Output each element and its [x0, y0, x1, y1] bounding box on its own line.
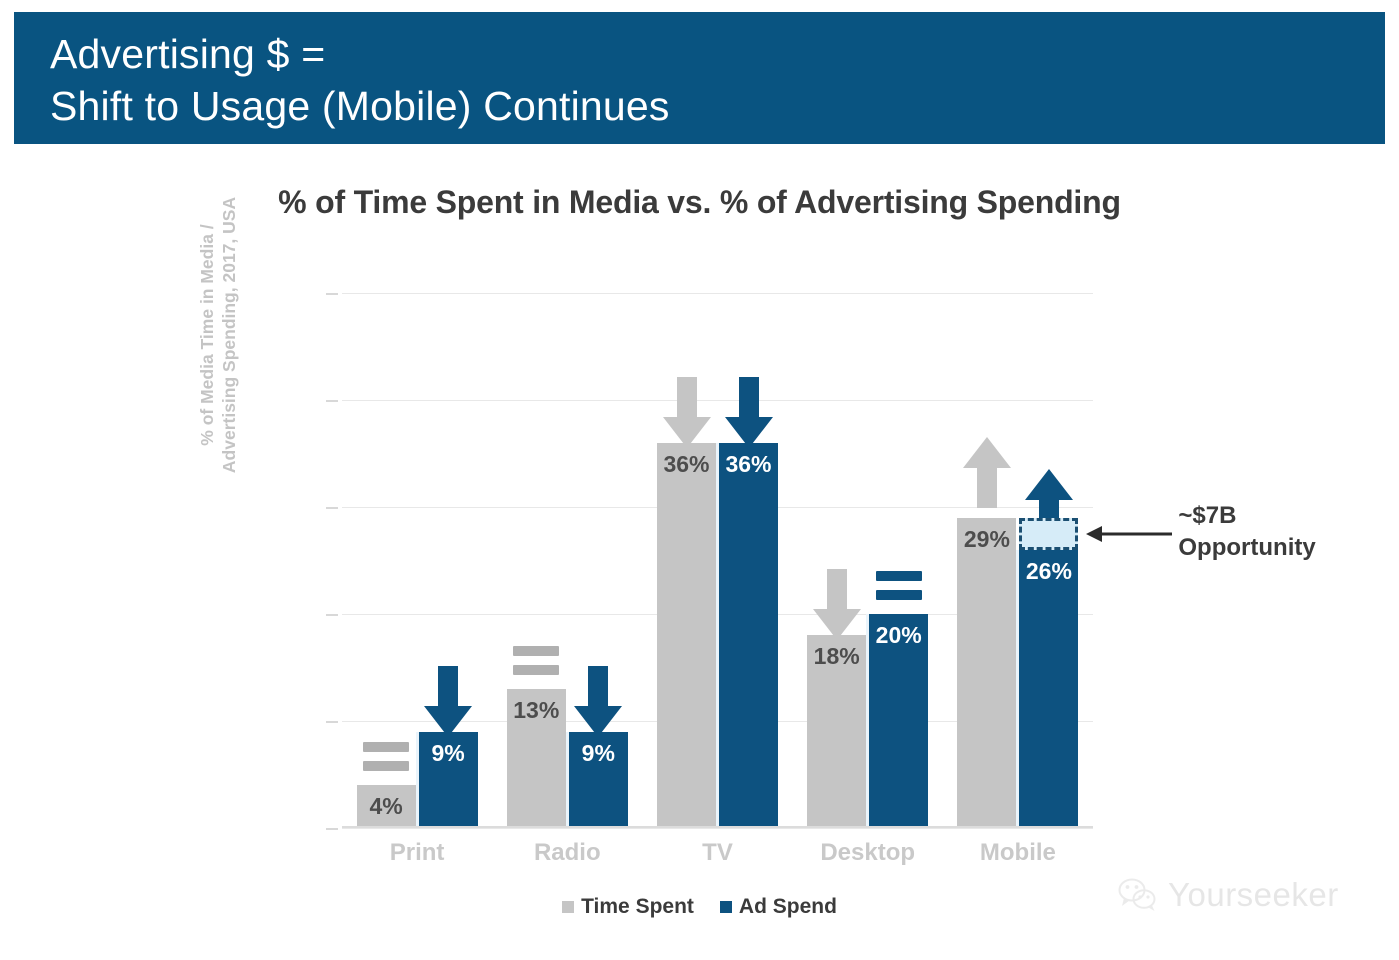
chart-container: % of Time Spent in Media vs. % of Advert…: [0, 150, 1399, 960]
wechat-icon: [1118, 878, 1158, 912]
y-axis-tick-mark: [326, 400, 338, 402]
y-axis-tick-mark: [326, 721, 338, 723]
equals-indicator-icon: [876, 571, 922, 600]
y-axis-tick-mark: [326, 828, 338, 830]
gridline: [342, 400, 1093, 401]
bar-value-label: 36%: [719, 451, 778, 478]
arrow-down-icon: [573, 666, 623, 738]
y-axis-title-line-2: Advertising Spending, 2017, USA: [218, 175, 240, 495]
opportunity-arrow-icon: [1084, 524, 1174, 544]
opportunity-amount: ~$7B: [1178, 500, 1315, 532]
x-axis-tick-label: Radio: [534, 839, 601, 867]
bar-tv-time-spent[interactable]: 36%: [657, 443, 716, 828]
arrow-down-icon: [724, 377, 774, 449]
header-title-line-2: Shift to Usage (Mobile) Continues: [50, 80, 1385, 132]
header-title-line-1: Advertising $ =: [50, 28, 1385, 80]
arrow-down-icon: [662, 377, 712, 449]
opportunity-highlight-box: [1019, 518, 1078, 550]
equals-indicator-icon: [363, 742, 409, 771]
plot-area: 4%9%13%9%36%36%18%20%29%26% ~$7B Opportu…: [342, 293, 1093, 828]
arrow-up-icon: [962, 436, 1012, 508]
x-axis-tick-label: Desktop: [820, 839, 915, 867]
bar-value-label: 26%: [1019, 558, 1078, 585]
bar-value-label: 36%: [657, 451, 716, 478]
legend-swatch: [562, 901, 574, 913]
y-axis-tick-mark: [326, 293, 338, 295]
y-axis-tick-mark: [326, 614, 338, 616]
bar-print-ad-spend[interactable]: 9%: [419, 732, 478, 828]
y-axis-title: % of Media Time in Media / Advertising S…: [196, 175, 240, 495]
bar-print-time-spent[interactable]: 4%: [357, 785, 416, 828]
x-axis-tick-label: Print: [390, 839, 445, 867]
bar-value-label: 9%: [419, 740, 478, 767]
x-axis-line: [342, 826, 1093, 828]
opportunity-annotation: ~$7B Opportunity: [1178, 500, 1315, 564]
watermark: Yourseeker: [1118, 876, 1339, 914]
legend-swatch: [720, 901, 732, 913]
bar-desktop-time-spent[interactable]: 18%: [807, 635, 866, 828]
legend-item[interactable]: Time Spent: [562, 895, 694, 919]
bar-desktop-ad-spend[interactable]: 20%: [869, 614, 928, 828]
slide-header-banner: Advertising $ = Shift to Usage (Mobile) …: [14, 12, 1385, 144]
y-axis-tick-mark: [326, 507, 338, 509]
bar-mobile-time-spent[interactable]: 29%: [957, 518, 1016, 828]
equals-indicator-icon: [513, 646, 559, 675]
bar-value-label: 4%: [357, 793, 416, 820]
y-axis-title-line-1: % of Media Time in Media /: [196, 175, 218, 495]
gridline: [342, 293, 1093, 294]
arrow-down-icon: [812, 569, 862, 641]
bar-value-label: 13%: [507, 697, 566, 724]
legend-item[interactable]: Ad Spend: [720, 895, 837, 919]
bar-radio-ad-spend[interactable]: 9%: [569, 732, 628, 828]
gridline: [342, 828, 1093, 829]
arrow-down-icon: [423, 666, 473, 738]
legend-label: Time Spent: [581, 895, 694, 919]
bar-tv-ad-spend[interactable]: 36%: [719, 443, 778, 828]
watermark-text: Yourseeker: [1168, 876, 1339, 914]
bar-value-label: 18%: [807, 643, 866, 670]
bar-value-label: 20%: [869, 622, 928, 649]
bar-value-label: 9%: [569, 740, 628, 767]
x-axis-tick-label: Mobile: [980, 839, 1056, 867]
bar-value-label: 29%: [957, 526, 1016, 553]
bar-radio-time-spent[interactable]: 13%: [507, 689, 566, 828]
opportunity-label: Opportunity: [1178, 532, 1315, 564]
bar-mobile-ad-spend[interactable]: 26%: [1019, 550, 1078, 828]
x-axis-tick-label: TV: [702, 839, 733, 867]
legend-label: Ad Spend: [739, 895, 837, 919]
